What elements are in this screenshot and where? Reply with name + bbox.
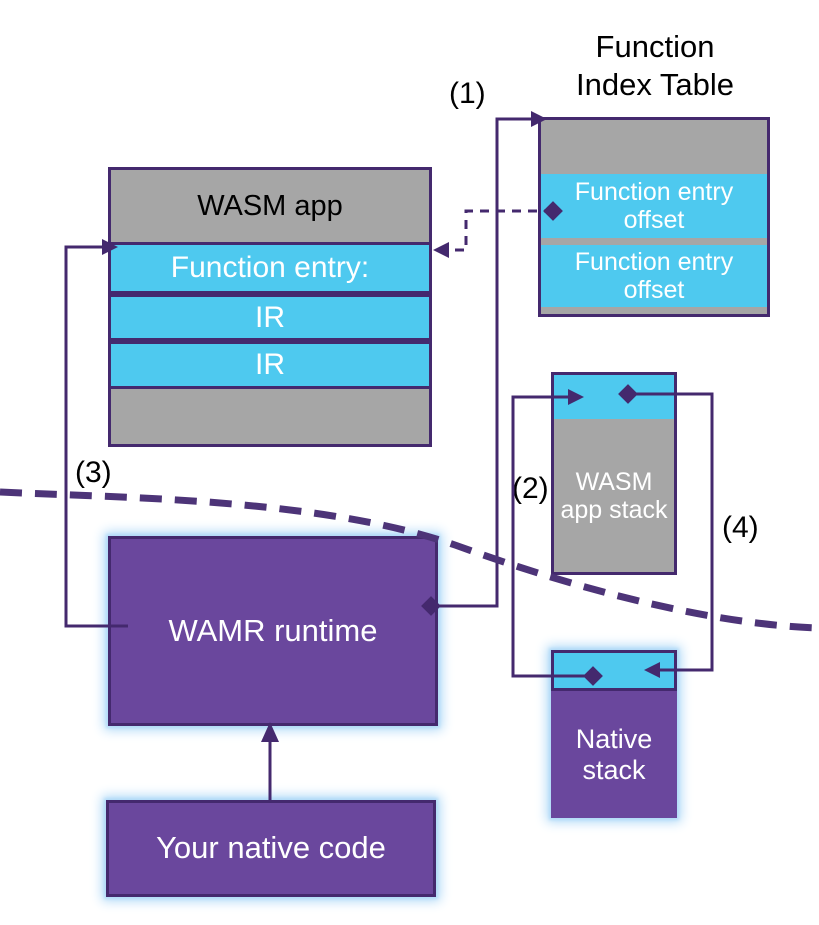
wasm-app-stack-top-band — [554, 375, 674, 419]
function-index-table-separator-1 — [541, 307, 767, 314]
step-label-3: (3) — [75, 455, 112, 490]
step-label-4: (4) — [722, 510, 759, 545]
wasm-app-footer — [111, 389, 429, 444]
function-index-table-row-1: Function entry offset — [541, 245, 767, 307]
step-label-2: (2) — [512, 471, 549, 506]
wasm-app-row-ir-0: IR — [108, 294, 432, 341]
function-index-table-title: Function Index Table — [540, 28, 770, 104]
connector-native-code-to-runtime — [261, 722, 279, 800]
wasm-app-stack-label: WASM app stack — [554, 419, 674, 572]
diagram-canvas: Function Index Table Function entry offs… — [0, 0, 819, 925]
native-stack-top-band — [551, 650, 677, 691]
native-stack-label: Native stack — [551, 691, 677, 818]
wasm-app-row-function-entry: Function entry: — [108, 242, 432, 294]
wasm-app-title: WASM app — [111, 170, 429, 242]
step-label-1: (1) — [449, 76, 486, 111]
function-index-table-header-row — [541, 120, 767, 174]
function-index-table-row-0: Function entry offset — [541, 174, 767, 238]
wamr-runtime-box: WAMR runtime — [108, 536, 438, 726]
your-native-code-box: Your native code — [106, 800, 436, 897]
function-index-table-separator-0 — [541, 238, 767, 245]
wasm-app-row-ir-1: IR — [108, 341, 432, 389]
connector-1 — [421, 111, 547, 616]
